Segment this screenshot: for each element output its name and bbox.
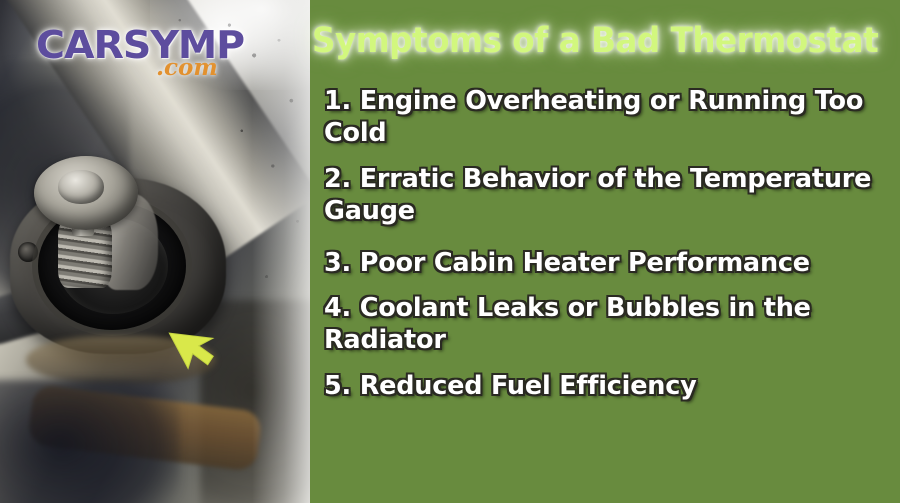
- symptom-list: 1. Engine Overheating or Running Too Col…: [324, 86, 900, 417]
- photo-dirt-specks: [0, 0, 310, 503]
- content-panel: Symptoms of a Bad Thermostat 1. Engine O…: [310, 0, 900, 503]
- list-item: 2. Erratic Behavior of the Temperature G…: [324, 164, 900, 228]
- infographic-root: CARSYMP .com Symptoms of a Bad Thermosta…: [0, 0, 900, 503]
- list-item: 5. Reduced Fuel Efficiency: [324, 371, 900, 403]
- list-item: 3. Poor Cabin Heater Performance: [324, 248, 900, 280]
- thermostat-photo: [0, 0, 310, 503]
- list-item: 4. Coolant Leaks or Bubbles in the Radia…: [324, 293, 900, 357]
- list-item: 1. Engine Overheating or Running Too Col…: [324, 86, 900, 150]
- page-title: Symptoms of a Bad Thermostat: [312, 24, 857, 59]
